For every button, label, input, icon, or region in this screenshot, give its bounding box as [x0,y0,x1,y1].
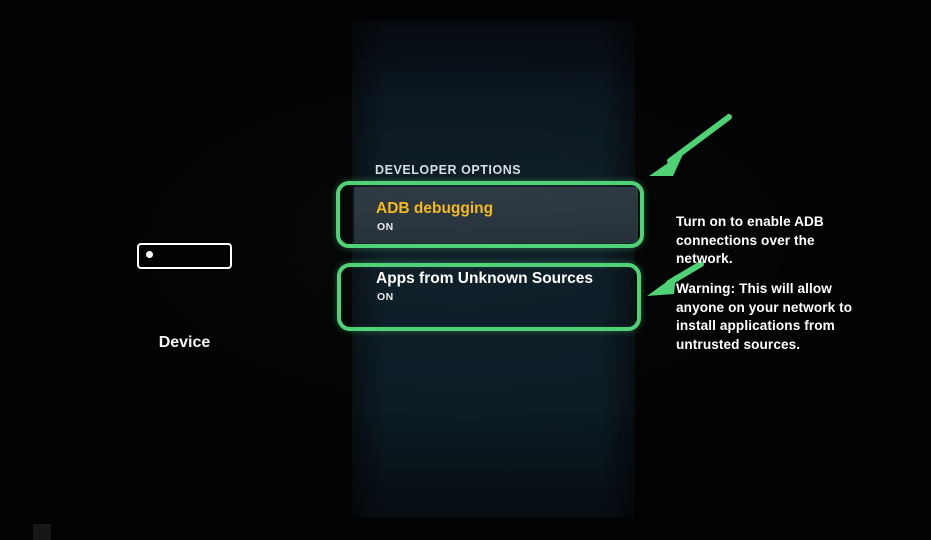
fire-tv-screenshot: DEVELOPER OPTIONS ADB debugging ON Apps … [0,0,931,540]
device-tile[interactable] [137,243,232,269]
annotation-note-adb: Turn on to enable ADB connections over t… [676,213,872,269]
annotation-note-warning: Warning: This will allow anyone on your … [676,280,872,354]
highlight-box-apps-from-unknown-sources [337,263,641,331]
arrow-to-adb-option-icon [649,117,729,176]
fire-tv-stick-icon [146,251,153,258]
capture-artifact [33,524,51,540]
highlight-box-adb-debugging [336,181,644,248]
device-tile-label: Device [137,334,232,352]
page-title: DEVELOPER OPTIONS [375,163,521,177]
